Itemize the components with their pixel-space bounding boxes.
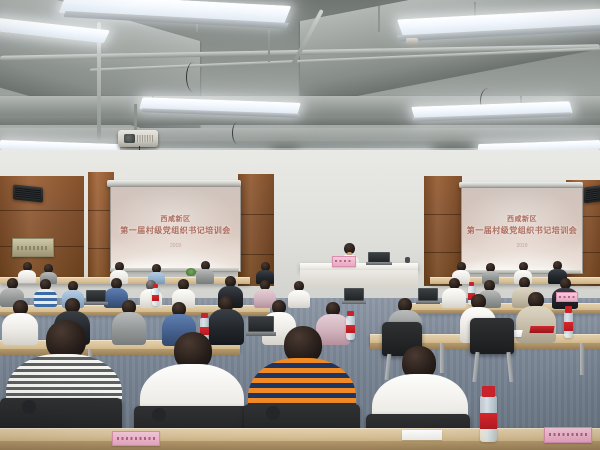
chair-mid-1[interactable] [470,318,514,354]
projector-lens [124,134,135,143]
desk-foreground-edge [0,441,600,450]
namecard-text [559,296,575,298]
bottle-cap [347,311,354,317]
bottle-label [152,295,159,301]
ceiling-beam-2 [0,128,600,142]
presenter-laptop-base [366,262,392,265]
presenter-laptop-screen [368,252,390,263]
attendee-torso [516,306,556,343]
chair-arm-front-2 [152,408,166,422]
water-bottle-r2-a[interactable] [152,288,159,306]
wall-plaque [12,238,54,257]
desk-leg-r3-c [580,343,584,375]
projector-mount-pole [134,104,137,132]
slide-title-line2-left: 第一届村级党组织书记培训会 [111,225,240,236]
light-hanger-3 [378,6,380,32]
ceiling-cable-3 [232,122,243,144]
slide-subtitle-left: 2019 [111,243,240,249]
ceiling-projector [118,130,158,147]
wall-speaker-right [584,185,600,204]
bottle-cap [482,386,494,397]
desk-plant [186,268,196,276]
projector-vent [137,135,153,142]
bottle-cap [565,306,572,312]
bottle-cap [469,282,474,287]
chair-arm-front-3 [266,406,280,420]
presenter-namecard [332,256,356,267]
slide-title-line1-right: 西咸新区 [462,214,582,224]
presenter-desk-front [300,270,418,288]
bottle-cap [201,313,208,319]
wall-speaker-left-grille [15,187,41,201]
wall-plaque-text [17,246,49,250]
namecard-text [549,433,587,436]
attendee-far-5 [196,261,214,283]
ceiling-smoke-detector [406,38,418,45]
bottle-label [480,413,497,429]
room-photo: 西咸新区 第一届村级党组织书记培训会 2019 西咸新区 第一届村级党组织书记培… [0,0,600,450]
red-book-r3 [529,326,554,333]
namecard-r2-a [556,292,578,302]
attendee-r3-10 [516,292,556,342]
namecard-foreground-b [544,427,592,443]
water-bottle-r3-c[interactable] [564,312,573,338]
attendee-torso [196,269,214,284]
presenter-namecard-text [335,260,353,262]
attendee-laptop-screen [344,288,364,301]
paper-foreground [402,430,442,440]
slide-title-line1-left: 西咸新区 [111,214,240,224]
projection-screen-left[interactable]: 西咸新区 第一届村级党组织书记培训会 2019 [110,186,241,272]
wall-speaker-right-grille [586,187,600,201]
namecard-foreground-a [112,431,160,446]
bottle-label [564,322,573,331]
presenter-laptop[interactable] [368,252,390,265]
presenter-microphone [405,257,410,263]
chair-arm-front-1 [22,400,36,414]
light-hanger-2 [268,30,270,62]
slide-subtitle-right: 2019 [462,243,582,249]
ceiling-cable-1 [186,62,201,92]
water-bottle-foreground[interactable] [480,396,497,442]
slide-title-line2-right: 第一届村级党组织书记培训会 [462,225,582,236]
wall-speaker-left [13,184,43,202]
projection-screen-left-weight-bar [110,268,239,271]
namecard-text [117,437,155,440]
bottle-cap [153,284,158,288]
